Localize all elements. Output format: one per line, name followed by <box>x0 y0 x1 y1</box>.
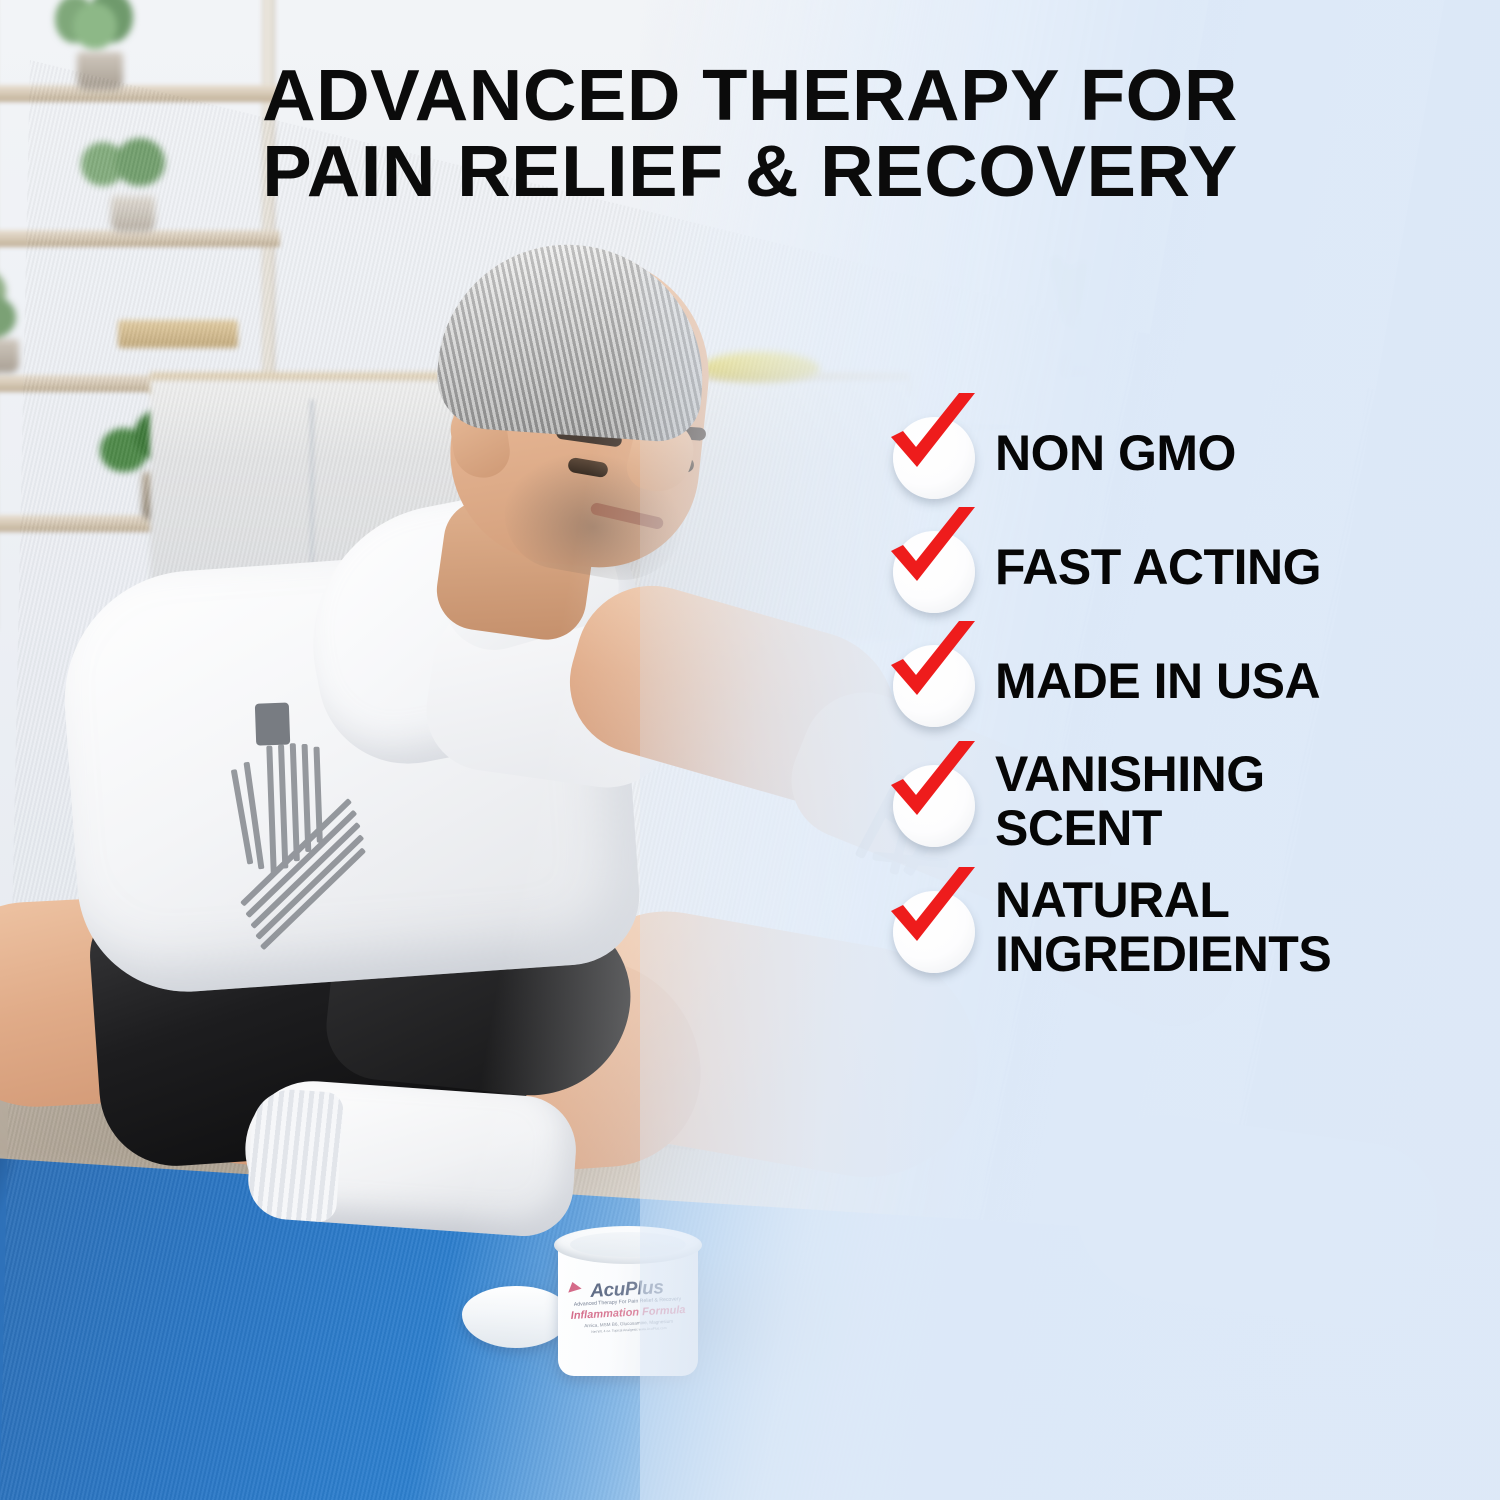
red-check-icon <box>883 505 983 605</box>
page-title: ADVANCED THERAPY FOR PAIN RELIEF & RECOV… <box>0 58 1500 210</box>
feature-label: FAST ACTING <box>995 540 1321 594</box>
feature-item-vanishing-scent: VANISHING SCENT <box>885 747 1485 855</box>
check-badge <box>885 753 981 849</box>
headline-line-1: ADVANCED THERAPY FOR <box>0 58 1500 134</box>
check-badge <box>885 879 981 975</box>
feature-label: VANISHING SCENT <box>995 747 1265 855</box>
check-badge <box>885 405 981 501</box>
left-sock-cuff <box>246 1087 345 1223</box>
red-check-icon <box>883 391 983 491</box>
feature-label: NATURAL INGREDIENTS <box>995 873 1331 981</box>
product-marketing-image: AcuPlus Advanced Therapy For Pain Relief… <box>0 0 1500 1500</box>
red-check-icon <box>883 739 983 839</box>
feature-item-natural-ingredients: NATURAL INGREDIENTS <box>885 873 1485 981</box>
feature-item-non-gmo: NON GMO <box>885 405 1485 501</box>
check-badge <box>885 519 981 615</box>
feature-label: MADE IN USA <box>995 654 1320 708</box>
check-badge <box>885 633 981 729</box>
feature-list: NON GMO FAST ACTING MADE IN USA <box>885 405 1485 999</box>
red-check-icon <box>883 619 983 719</box>
feature-label: NON GMO <box>995 426 1236 480</box>
red-check-icon <box>883 865 983 965</box>
headline-line-2: PAIN RELIEF & RECOVERY <box>0 134 1500 210</box>
feature-item-made-in-usa: MADE IN USA <box>885 633 1485 729</box>
feature-item-fast-acting: FAST ACTING <box>885 519 1485 615</box>
